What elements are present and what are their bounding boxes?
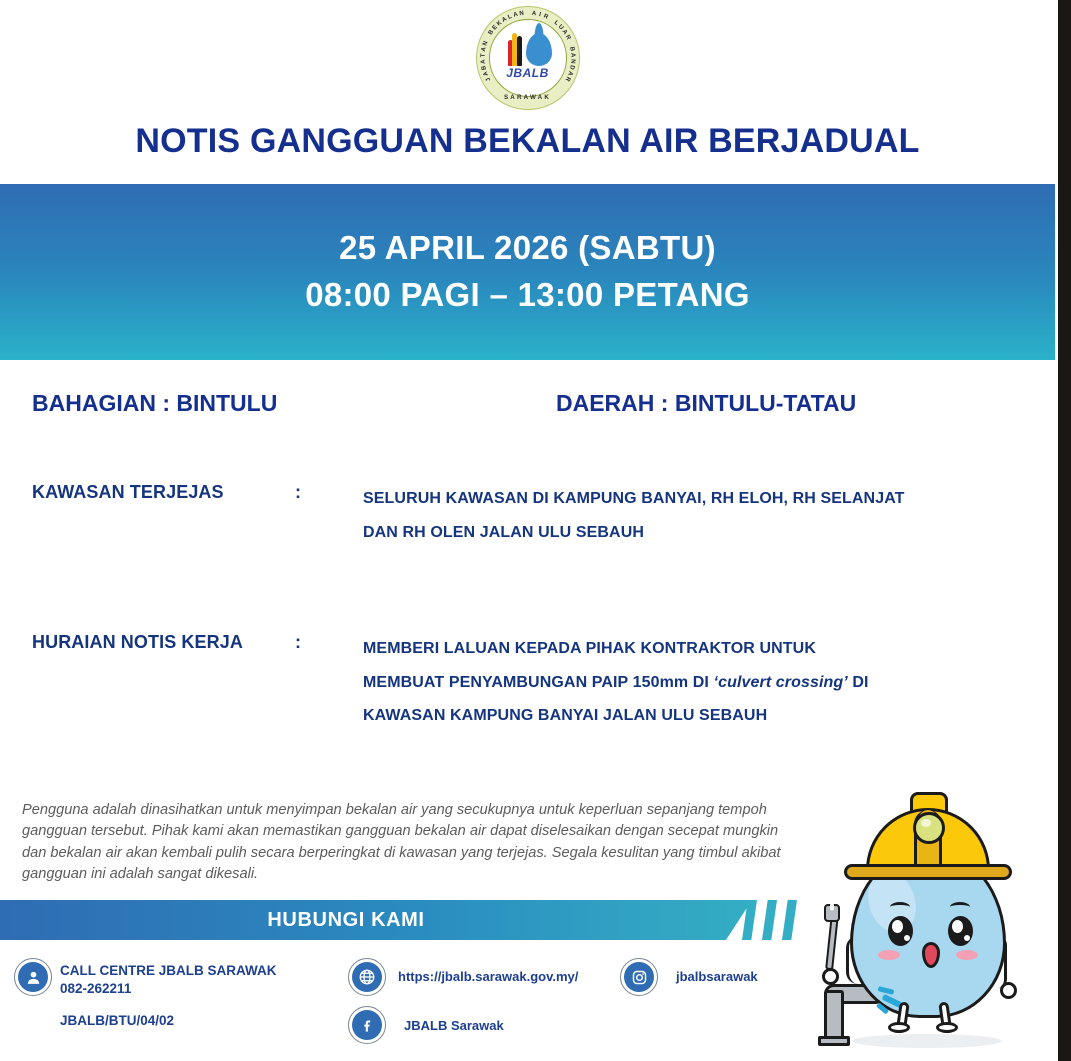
hard-hat-lamp-icon bbox=[913, 812, 945, 844]
facebook-icon[interactable] bbox=[348, 1006, 386, 1044]
page-title: NOTIS GANGGUAN BEKALAN AIR BERJADUAL bbox=[0, 122, 1055, 161]
water-disruption-notice-poster: JABATAN BEKALAN AIR LUAR BANDAR JBALB SA… bbox=[0, 0, 1071, 1061]
date-time-banner: 25 APRIL 2026 (SABTU) 08:00 PAGI – 13:00… bbox=[0, 184, 1055, 360]
advisory-disclaimer-text: Pengguna adalah dinasihatkan untuk menyi… bbox=[22, 800, 782, 886]
water-droplet-icon bbox=[526, 33, 552, 66]
contact-banner: HUBUNGI KAMI bbox=[0, 900, 752, 940]
affected-area-value: SELURUH KAWASAN DI KAMPUNG BANYAI, RH EL… bbox=[363, 482, 905, 549]
banner-slash-decor bbox=[762, 900, 777, 940]
mascot-eyebrow bbox=[950, 902, 970, 912]
affected-area-colon: : bbox=[295, 482, 301, 503]
division-label: BAHAGIAN : BINTULU bbox=[32, 390, 277, 417]
facebook-handle[interactable]: JBALB Sarawak bbox=[404, 1017, 504, 1035]
call-centre-person-icon bbox=[14, 958, 52, 996]
work-description-line: MEMBUAT PENYAMBUNGAN PAIP 150mm DI ‘culv… bbox=[363, 666, 869, 700]
notice-date: 25 APRIL 2026 (SABTU) bbox=[339, 225, 716, 272]
mascot-blush bbox=[878, 950, 900, 960]
logo-container: JABATAN BEKALAN AIR LUAR BANDAR JBALB SA… bbox=[0, 6, 1055, 110]
mascot-eyebrow bbox=[890, 902, 910, 912]
jbalb-logo: JABATAN BEKALAN AIR LUAR BANDAR JBALB SA… bbox=[476, 6, 580, 110]
call-centre-text: CALL CENTRE JBALB SARAWAK 082-262211 bbox=[60, 962, 277, 998]
work-description-colon: : bbox=[295, 632, 301, 653]
mascot-blush bbox=[956, 950, 978, 960]
notice-time: 08:00 PAGI – 13:00 PETANG bbox=[305, 272, 750, 319]
mascot-foot bbox=[888, 1022, 910, 1033]
mascot-shadow bbox=[852, 1034, 1002, 1048]
pipe-base bbox=[818, 1036, 850, 1046]
hard-hat-brim bbox=[844, 864, 1012, 880]
district-label: DAERAH : BINTULU-TATAU bbox=[556, 390, 856, 417]
mascot-right-hand bbox=[1000, 982, 1017, 999]
work-description-line: MEMBERI LALUAN KEPADA PIHAK KONTRAKTOR U… bbox=[363, 632, 869, 666]
logo-brand-text: JBALB bbox=[476, 66, 580, 80]
website-globe-icon[interactable] bbox=[348, 958, 386, 996]
banner-slash-decor bbox=[782, 900, 797, 940]
person-icon bbox=[18, 962, 48, 992]
instagram-handle[interactable]: jbalbsarawak bbox=[676, 968, 758, 986]
work-description-value: MEMBERI LALUAN KEPADA PIHAK KONTRAKTOR U… bbox=[363, 632, 869, 733]
reference-number: JBALB/BTU/04/02 bbox=[60, 1012, 174, 1030]
call-centre-name: CALL CENTRE JBALB SARAWAK bbox=[60, 962, 277, 980]
right-edge-strip bbox=[1058, 0, 1071, 1061]
website-url[interactable]: https://jbalb.sarawak.gov.my/ bbox=[398, 968, 578, 986]
mascot-eye bbox=[888, 916, 913, 946]
flame-icon bbox=[508, 30, 523, 66]
globe-icon bbox=[352, 962, 382, 992]
logo-bottom-text: SARAWAK bbox=[476, 94, 580, 101]
instagram-icon[interactable] bbox=[620, 958, 658, 996]
affected-area-line: SELURUH KAWASAN DI KAMPUNG BANYAI, RH EL… bbox=[363, 482, 905, 516]
leaking-pipe-vertical bbox=[824, 990, 844, 1042]
mascot-eye bbox=[948, 916, 973, 946]
call-centre-phone: 082-262211 bbox=[60, 980, 277, 998]
work-description-label: HURAIAN NOTIS KERJA bbox=[32, 632, 243, 653]
affected-area-line: DAN RH OLEN JALAN ULU SEBAUH bbox=[363, 516, 905, 550]
italic-phrase: ‘culvert crossing’ bbox=[714, 674, 848, 691]
region-row: BAHAGIAN : BINTULU DAERAH : BINTULU-TATA… bbox=[0, 390, 1055, 426]
instagram-camera-icon bbox=[624, 962, 654, 992]
water-droplet-mascot bbox=[818, 786, 1054, 1054]
mascot-foot bbox=[936, 1022, 958, 1033]
facebook-f-icon bbox=[352, 1010, 382, 1040]
affected-area-label: KAWASAN TERJEJAS bbox=[32, 482, 224, 503]
mascot-left-hand bbox=[822, 968, 839, 985]
work-description-line: KAWASAN KAMPUNG BANYAI JALAN ULU SEBAUH bbox=[363, 699, 869, 733]
wrench-icon bbox=[824, 904, 840, 978]
contact-banner-title: HUBUNGI KAMI bbox=[267, 909, 424, 932]
